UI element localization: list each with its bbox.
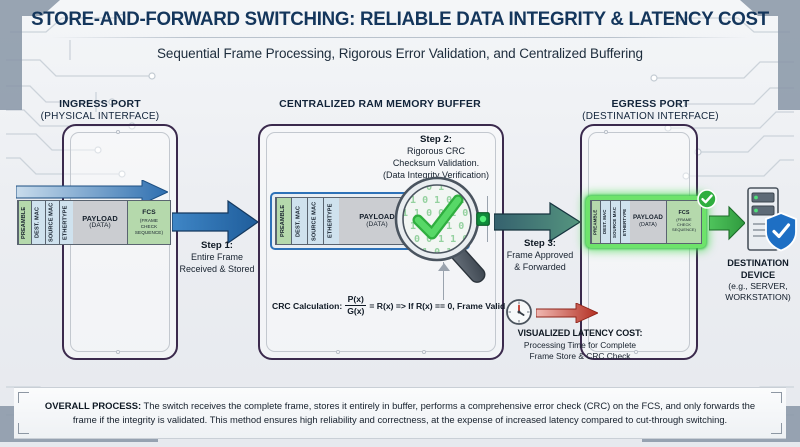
footer-corner-tl bbox=[18, 392, 29, 403]
fcs-label: FCS bbox=[142, 209, 156, 216]
destination-line1: DESTINATION bbox=[716, 258, 800, 270]
ingress-node-top bbox=[116, 130, 120, 134]
crc-formula: CRC Calculation: P(x) G(x) = R(x) => If … bbox=[272, 295, 505, 316]
step1-line2: Received & Stored bbox=[179, 264, 254, 274]
shield-check-icon bbox=[764, 212, 798, 257]
fcs-note-1: (FRAME bbox=[135, 218, 163, 223]
step1-caption: Step 1: Entire Frame Received & Stored bbox=[178, 240, 256, 276]
step3-caption: Step 3: Frame Approved & Forwarded bbox=[500, 238, 580, 274]
payload-label: PAYLOAD bbox=[82, 214, 118, 223]
ingress-title: INGRESS PORT bbox=[20, 98, 180, 111]
egress-fcs-label: FCS bbox=[678, 210, 689, 216]
latency-line2: Frame Store & CRC Check bbox=[530, 351, 631, 361]
buffer-segment-source-mac: SOURCE MAC bbox=[307, 198, 323, 244]
egress-ethernet-frame: PREAMBLE DEST. MAC SOURCE MAC ETHERTYPE … bbox=[590, 200, 702, 244]
buffer-title: CENTRALIZED RAM MEMORY BUFFER bbox=[255, 98, 505, 111]
egress-node-top bbox=[604, 130, 608, 134]
egress-segment-fcs: FCS (FRAME CHECK SEQUENCE) bbox=[667, 201, 701, 243]
fcs-note-2: CHECK bbox=[135, 224, 163, 229]
buffer-payload-note: (DATA) bbox=[359, 222, 395, 229]
step2-line1: Rigorous CRC bbox=[407, 146, 465, 156]
footer-label: OVERALL PROCESS: bbox=[45, 400, 141, 411]
page-title: STORE-AND-FORWARD SWITCHING: RELIABLE DA… bbox=[16, 8, 784, 30]
svg-text:0 0 0 1 1 0 0 0: 0 0 0 1 1 0 0 0 bbox=[402, 234, 492, 245]
egress-title: EGRESS PORT bbox=[563, 98, 738, 111]
latency-line1: Processing Time for Complete bbox=[524, 340, 636, 350]
buffer-segment-ethertype: ETHERTYPE bbox=[323, 198, 339, 244]
footer-text: OVERALL PROCESS: The switch receives the… bbox=[26, 399, 774, 427]
title-divider bbox=[50, 37, 750, 38]
frame-segment-ethertype: ETHERTYPE bbox=[59, 201, 73, 244]
footer-body: The switch receives the complete frame, … bbox=[73, 400, 755, 425]
step3-line1: Frame Approved bbox=[507, 250, 574, 260]
latency-caption: VISUALIZED LATENCY COST: Processing Time… bbox=[490, 328, 670, 362]
ingress-node-bottom bbox=[116, 350, 120, 354]
egress-frame-glow: PREAMBLE DEST. MAC SOURCE MAC ETHERTYPE … bbox=[586, 196, 706, 248]
crc-suffix: = R(x) => If R(x) == 0, Frame Valid bbox=[369, 301, 505, 311]
frame-segment-payload: PAYLOAD (DATA) bbox=[73, 201, 128, 244]
egress-payload-note: (DATA) bbox=[633, 223, 663, 229]
egress-segment-payload: PAYLOAD (DATA) bbox=[630, 201, 667, 243]
frame-segment-dest-mac: DEST. MAC bbox=[31, 201, 45, 244]
delivery-arrow bbox=[709, 205, 745, 246]
crc-numerator: P(x) bbox=[346, 295, 366, 304]
clock-icon bbox=[505, 298, 533, 331]
buffer-payload-label: PAYLOAD bbox=[359, 212, 395, 221]
egress-segment-preamble: PREAMBLE bbox=[591, 201, 600, 243]
egress-segment-ethertype: ETHERTYPE bbox=[620, 201, 630, 243]
egress-segment-source-mac: SOURCE MAC bbox=[610, 201, 620, 243]
ingress-ethernet-frame: PREAMBLE DEST. MAC SOURCE MAC ETHERTYPE … bbox=[17, 200, 171, 245]
magnifier-icon: 1 1 0 1 0 1 0 1 1 1 0 1 0 1 1 0 1 1 0 0 … bbox=[392, 172, 502, 295]
frame-segment-source-mac: SOURCE MAC bbox=[45, 201, 59, 244]
overall-process-footer: OVERALL PROCESS: The switch receives the… bbox=[14, 387, 786, 439]
egress-subtitle: (DESTINATION INTERFACE) bbox=[563, 111, 738, 124]
destination-line4: WORKSTATION) bbox=[716, 292, 800, 303]
buffer-segment-preamble: PREAMBLE bbox=[276, 198, 291, 244]
buffer-segment-dest-mac: DEST. MAC bbox=[291, 198, 307, 244]
diagram-canvas: STORE-AND-FORWARD SWITCHING: RELIABLE DA… bbox=[0, 0, 800, 447]
crc-prefix: CRC Calculation: bbox=[272, 301, 342, 311]
step3-line2: & Forwarded bbox=[514, 262, 566, 272]
page-subtitle: Sequential Frame Processing, Rigorous Er… bbox=[0, 46, 800, 61]
step1-line1: Entire Frame bbox=[191, 252, 243, 262]
egress-payload-label: PAYLOAD bbox=[633, 214, 663, 221]
ingress-section-label: INGRESS PORT (PHYSICAL INTERFACE) bbox=[20, 98, 180, 124]
destination-caption: DESTINATION DEVICE (e.g., SERVER, WORKST… bbox=[716, 258, 800, 302]
crc-fraction: P(x) G(x) bbox=[345, 295, 366, 316]
step2-line2: Checksum Validation. bbox=[393, 158, 479, 168]
fcs-note-3: SEQUENCE) bbox=[135, 230, 163, 235]
ingress-subtitle: (PHYSICAL INTERFACE) bbox=[20, 111, 180, 124]
crc-denominator: G(x) bbox=[345, 307, 366, 316]
footer-corner-bl bbox=[18, 423, 29, 434]
step2-title: Step 2: bbox=[368, 134, 504, 146]
frame-segment-preamble: PREAMBLE bbox=[18, 201, 31, 244]
payload-note: (DATA) bbox=[82, 223, 118, 230]
header: STORE-AND-FORWARD SWITCHING: RELIABLE DA… bbox=[0, 8, 800, 61]
buffer-section-label: CENTRALIZED RAM MEMORY BUFFER bbox=[255, 98, 505, 111]
led-node-icon bbox=[476, 212, 490, 231]
destination-line2: DEVICE bbox=[716, 270, 800, 282]
footer-corner-br bbox=[771, 423, 782, 434]
egress-section-label: EGRESS PORT (DESTINATION INTERFACE) bbox=[563, 98, 738, 124]
step1-title: Step 1: bbox=[178, 240, 256, 252]
frame-segment-fcs: FCS (FRAME CHECK SEQUENCE) bbox=[128, 201, 170, 244]
egress-fcs-note-3: SEQUENCE) bbox=[672, 228, 696, 232]
buffer-node-bottom-left bbox=[336, 350, 340, 354]
egress-segment-dest-mac: DEST. MAC bbox=[600, 201, 610, 243]
footer-corner-tr bbox=[771, 392, 782, 403]
latency-arrow bbox=[536, 303, 598, 328]
latency-title: VISUALIZED LATENCY COST: bbox=[490, 328, 670, 340]
crc-pointer-arrowhead bbox=[438, 258, 450, 276]
buffer-node-bottom-right bbox=[422, 350, 426, 354]
destination-line3: (e.g., SERVER, bbox=[716, 281, 800, 292]
step3-title: Step 3: bbox=[500, 238, 580, 250]
